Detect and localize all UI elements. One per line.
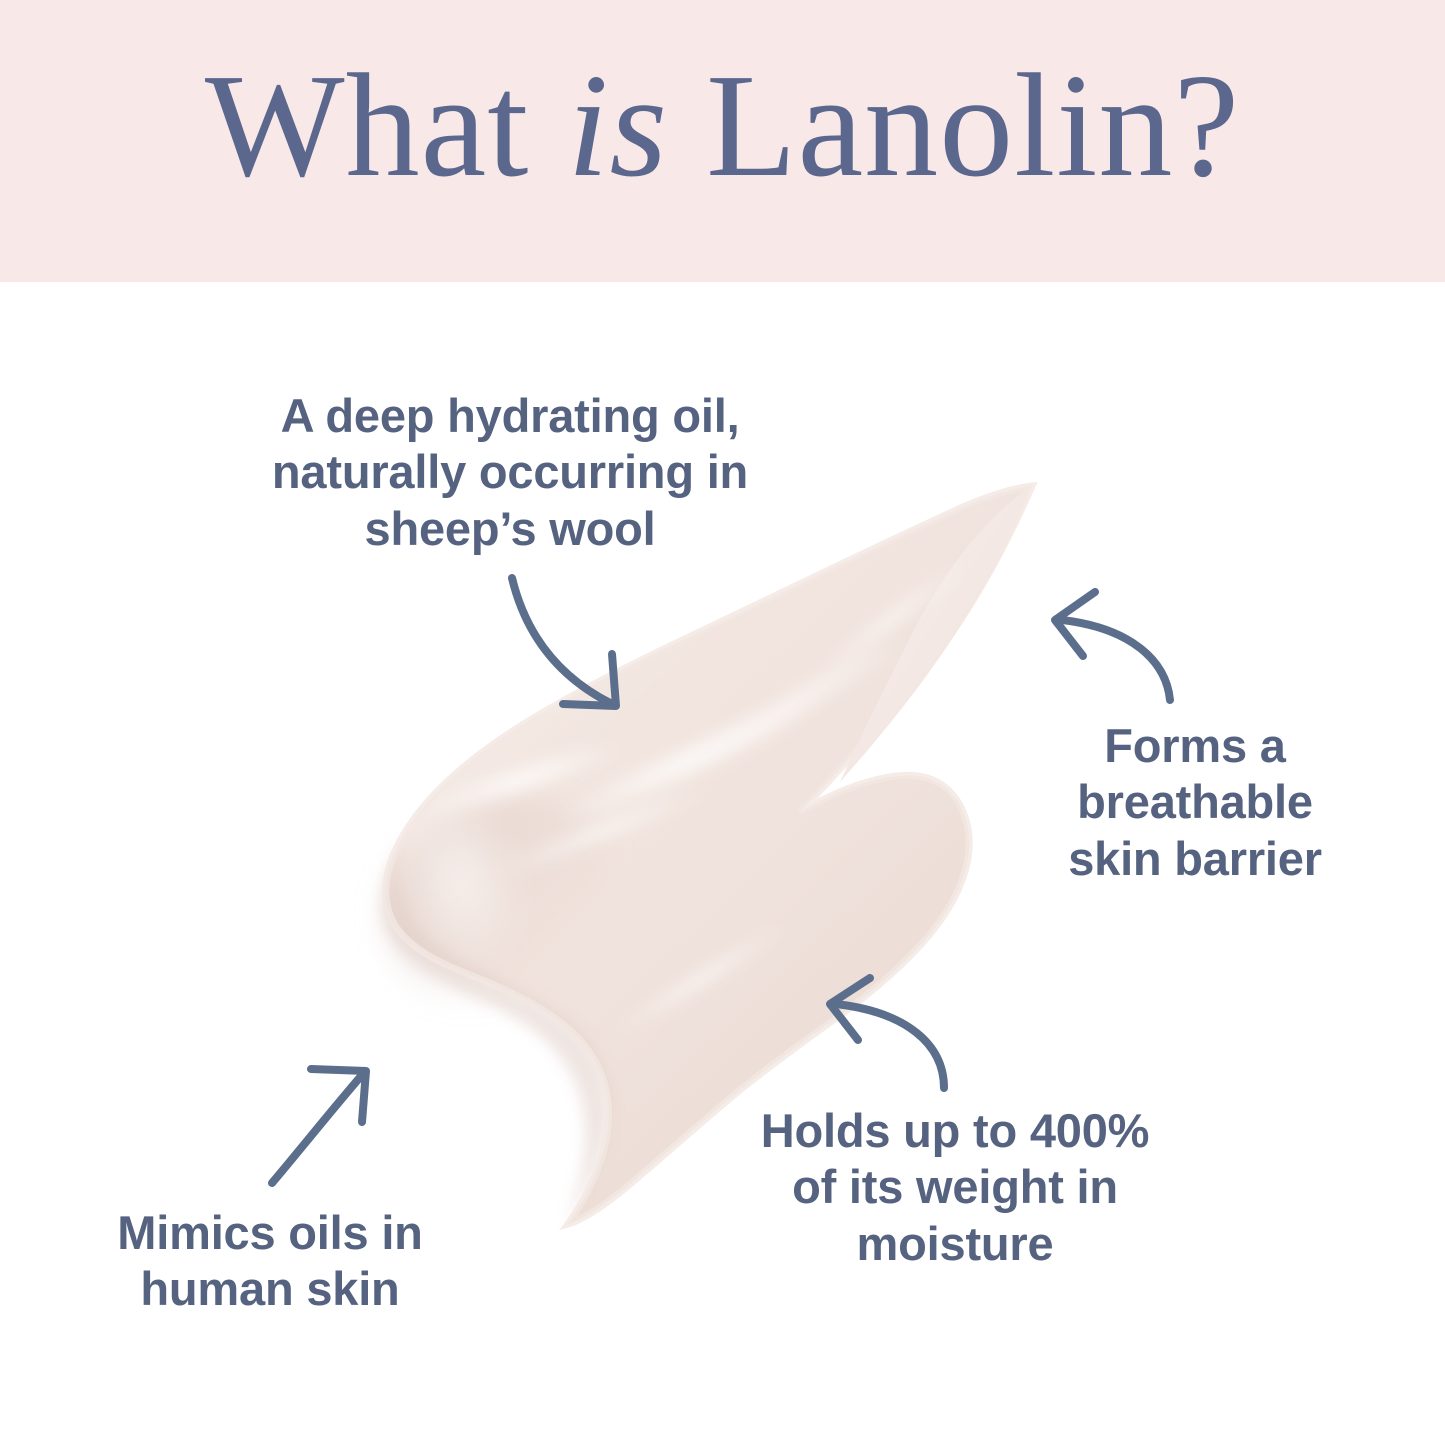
- callout-moisture: Holds up to 400% of its weight in moistu…: [690, 1103, 1220, 1272]
- header-band: What is Lanolin?: [0, 0, 1445, 282]
- callout-moisture-line-3: moisture: [690, 1216, 1220, 1272]
- callout-moisture-line-1: Holds up to 400%: [690, 1103, 1220, 1159]
- callout-barrier-line-1: Forms a: [1030, 718, 1360, 774]
- page-title: What is Lanolin?: [0, 52, 1445, 200]
- callout-hydrating-line-1: A deep hydrating oil,: [175, 388, 845, 444]
- callout-barrier: Forms a breathable skin barrier: [1030, 718, 1360, 887]
- callout-hydrating-line-3: sheep’s wool: [175, 501, 845, 557]
- callout-hydrating-line-2: naturally occurring in: [175, 444, 845, 500]
- callout-mimics: Mimics oils in human skin: [60, 1205, 480, 1318]
- callout-barrier-line-2: breathable: [1030, 774, 1360, 830]
- callout-mimics-line-1: Mimics oils in: [60, 1205, 480, 1261]
- callout-mimics-line-2: human skin: [60, 1261, 480, 1317]
- page-title-emphasis: is: [567, 44, 668, 208]
- page-title-part1: What: [205, 44, 568, 208]
- infographic-page: What is Lanolin?: [0, 0, 1445, 1445]
- callout-barrier-line-3: skin barrier: [1030, 831, 1360, 887]
- page-title-part2: Lanolin?: [668, 44, 1240, 208]
- callout-hydrating: A deep hydrating oil, naturally occurrin…: [175, 388, 845, 557]
- callout-moisture-line-2: of its weight in: [690, 1159, 1220, 1215]
